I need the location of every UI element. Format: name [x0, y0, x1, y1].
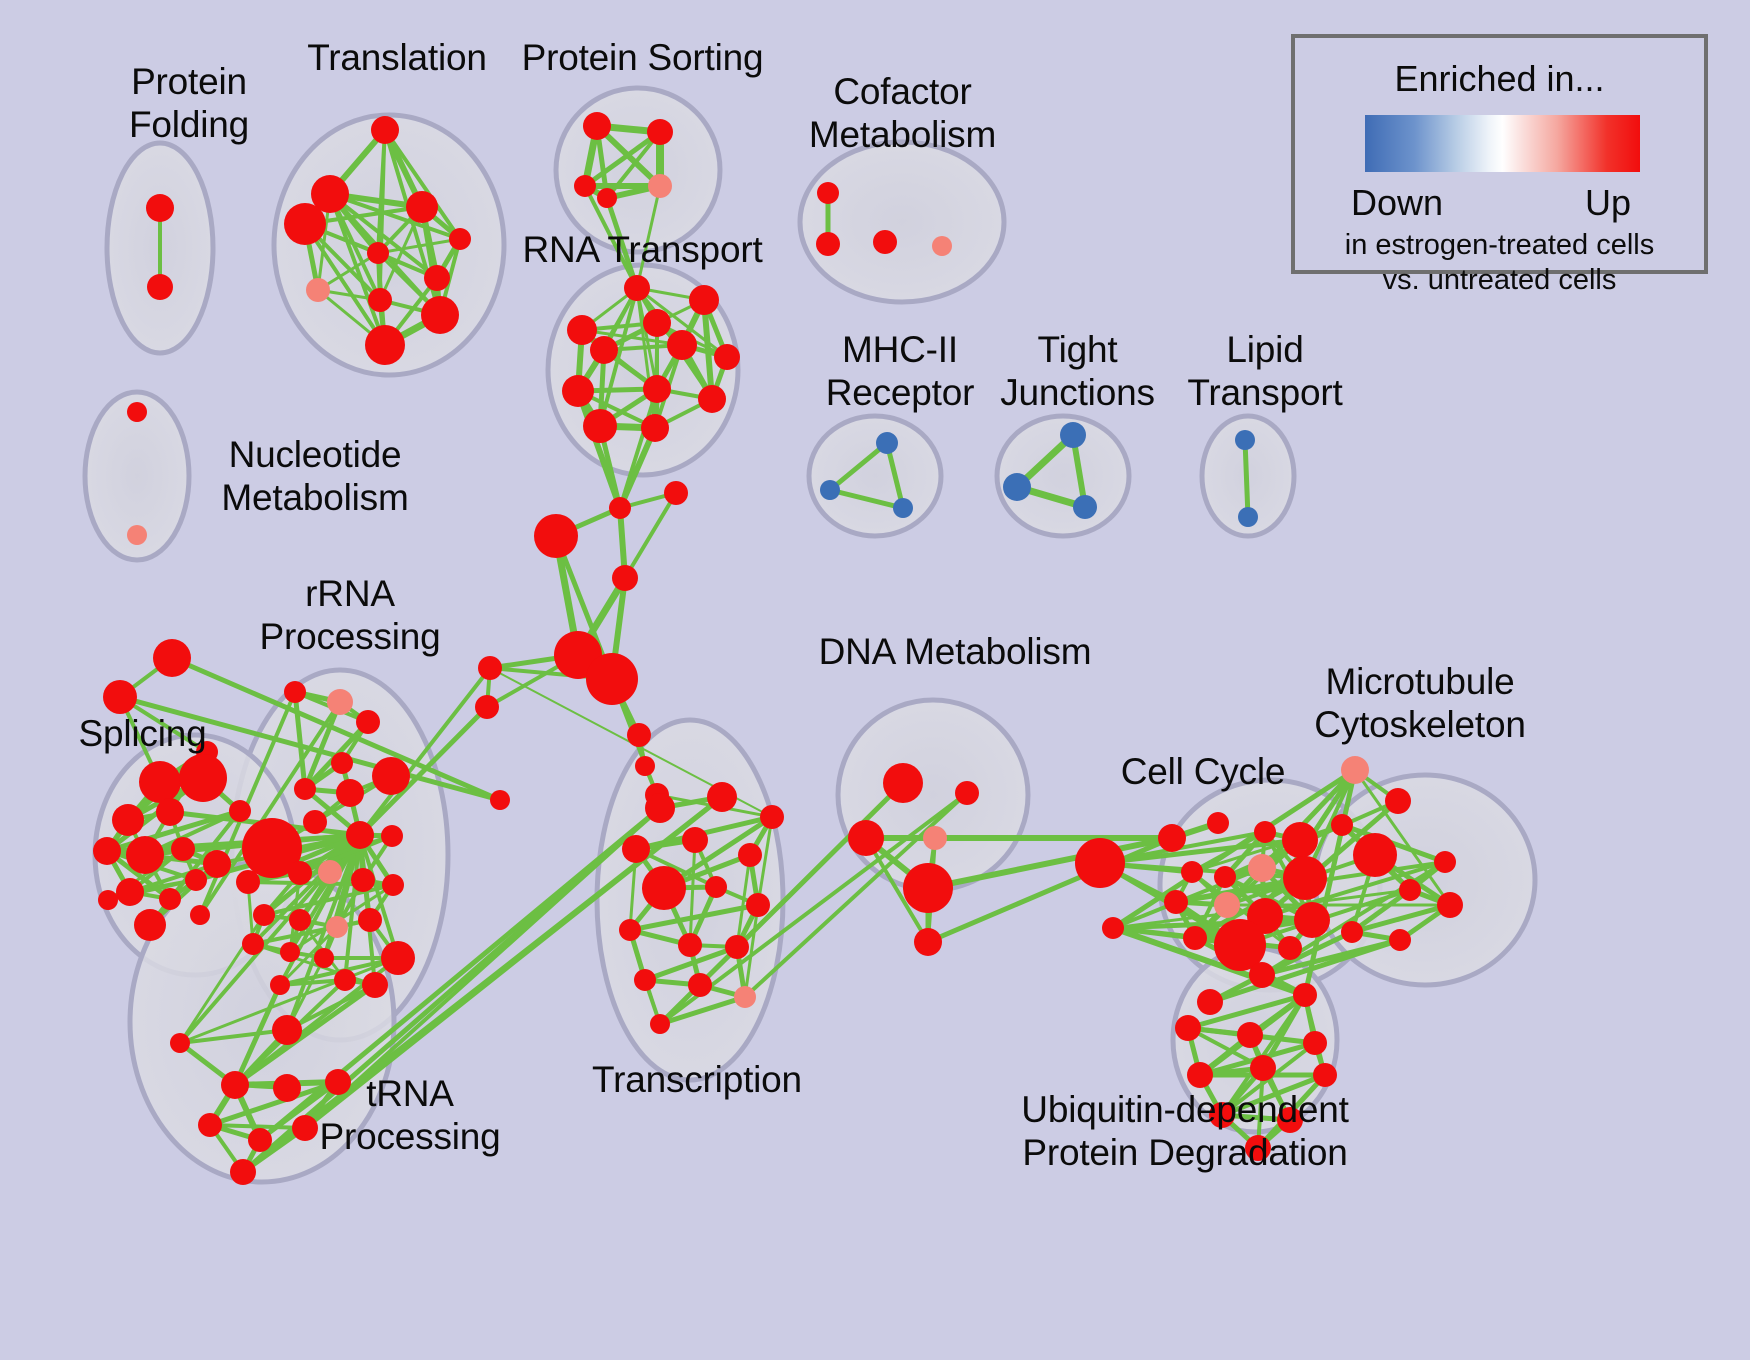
network-node[interactable]	[139, 761, 181, 803]
network-node[interactable]	[280, 942, 300, 962]
network-node[interactable]	[273, 1074, 301, 1102]
network-node[interactable]	[365, 325, 405, 365]
network-node[interactable]	[449, 228, 471, 250]
network-node[interactable]	[622, 835, 650, 863]
network-node[interactable]	[270, 975, 290, 995]
network-node[interactable]	[1197, 989, 1223, 1015]
network-node[interactable]	[1214, 892, 1240, 918]
network-node[interactable]	[1003, 473, 1031, 501]
network-node[interactable]	[1207, 812, 1229, 834]
network-node[interactable]	[1434, 851, 1456, 873]
network-node[interactable]	[734, 986, 756, 1008]
legend-panel: Enriched in... Down Up in estrogen-treat…	[1291, 34, 1708, 274]
network-node[interactable]	[955, 781, 979, 805]
network-node[interactable]	[1181, 861, 1203, 883]
cluster-ellipse-mhc-ii-receptor	[809, 416, 941, 536]
network-node[interactable]	[678, 933, 702, 957]
network-node[interactable]	[634, 969, 656, 991]
network-node[interactable]	[1214, 866, 1236, 888]
network-node[interactable]	[203, 850, 231, 878]
network-node[interactable]	[236, 870, 260, 894]
network-node[interactable]	[1175, 1015, 1201, 1041]
network-node[interactable]	[146, 194, 174, 222]
network-node[interactable]	[648, 174, 672, 198]
network-node[interactable]	[1278, 936, 1302, 960]
cluster-label-rrna-processing: rRNA Processing	[250, 572, 450, 658]
network-node[interactable]	[134, 909, 166, 941]
network-node[interactable]	[381, 825, 403, 847]
network-node[interactable]	[707, 782, 737, 812]
network-node[interactable]	[923, 826, 947, 850]
cluster-label-mhc-ii-receptor: MHC-II Receptor	[800, 328, 1000, 414]
network-node[interactable]	[284, 681, 306, 703]
network-node[interactable]	[1158, 824, 1186, 852]
network-node[interactable]	[1437, 892, 1463, 918]
network-node[interactable]	[848, 820, 884, 856]
network-node[interactable]	[294, 778, 316, 800]
network-node[interactable]	[327, 689, 353, 715]
network-node[interactable]	[932, 236, 952, 256]
network-node[interactable]	[190, 905, 210, 925]
cluster-label-cofactor-metabolism: Cofactor Metabolism	[790, 70, 1015, 156]
network-node[interactable]	[1303, 1031, 1327, 1055]
network-node[interactable]	[1183, 926, 1207, 950]
network-node[interactable]	[98, 890, 118, 910]
network-node[interactable]	[1254, 821, 1276, 843]
network-node[interactable]	[478, 656, 502, 680]
network-node[interactable]	[127, 402, 147, 422]
network-node[interactable]	[1249, 962, 1275, 988]
network-node[interactable]	[367, 242, 389, 264]
network-figure: Protein FoldingTranslationProtein Sortin…	[0, 0, 1750, 1360]
network-node[interactable]	[1235, 430, 1255, 450]
network-node[interactable]	[817, 182, 839, 204]
network-node[interactable]	[893, 498, 913, 518]
network-node[interactable]	[725, 935, 749, 959]
network-node[interactable]	[334, 969, 356, 991]
network-node[interactable]	[326, 916, 348, 938]
network-node[interactable]	[253, 904, 275, 926]
network-node[interactable]	[1250, 1055, 1276, 1081]
legend-subtitle-line2: vs. untreated cells	[1383, 264, 1617, 296]
network-node[interactable]	[590, 336, 618, 364]
cluster-label-protein-folding: Protein Folding	[84, 60, 294, 146]
network-node[interactable]	[1073, 495, 1097, 519]
network-node[interactable]	[664, 481, 688, 505]
network-node[interactable]	[153, 639, 191, 677]
network-node[interactable]	[567, 315, 597, 345]
network-node[interactable]	[248, 1128, 272, 1152]
network-node[interactable]	[760, 805, 784, 829]
cluster-label-dna-metabolism: DNA Metabolism	[810, 630, 1100, 673]
cluster-label-transcription: Transcription	[572, 1058, 822, 1101]
network-node[interactable]	[381, 941, 415, 975]
network-node[interactable]	[1248, 854, 1276, 882]
network-node[interactable]	[116, 878, 144, 906]
network-node[interactable]	[816, 232, 840, 256]
network-node[interactable]	[314, 948, 334, 968]
network-node[interactable]	[1385, 788, 1411, 814]
network-node[interactable]	[574, 175, 596, 197]
network-node[interactable]	[303, 810, 327, 834]
network-node[interactable]	[534, 514, 578, 558]
cluster-label-ubiquitin-protein-degradation: Ubiquitin-dependent Protein Degradation	[1000, 1088, 1370, 1174]
network-node[interactable]	[490, 790, 510, 810]
network-node[interactable]	[641, 414, 669, 442]
network-node[interactable]	[358, 908, 382, 932]
network-edge	[1245, 440, 1248, 517]
cluster-label-rna-transport: RNA Transport	[505, 228, 780, 271]
network-node[interactable]	[820, 480, 840, 500]
network-node[interactable]	[612, 565, 638, 591]
network-node[interactable]	[1331, 814, 1353, 836]
network-node[interactable]	[371, 116, 399, 144]
network-node[interactable]	[185, 869, 207, 891]
network-node[interactable]	[1293, 983, 1317, 1007]
network-node[interactable]	[873, 230, 897, 254]
network-node[interactable]	[619, 919, 641, 941]
network-node[interactable]	[647, 119, 673, 145]
network-node[interactable]	[288, 861, 312, 885]
network-node[interactable]	[645, 793, 675, 823]
network-node[interactable]	[318, 860, 342, 884]
network-node[interactable]	[609, 497, 631, 519]
network-node[interactable]	[198, 1113, 222, 1137]
network-node[interactable]	[356, 710, 380, 734]
network-node[interactable]	[562, 375, 594, 407]
network-node[interactable]	[876, 432, 898, 454]
network-node[interactable]	[627, 723, 651, 747]
network-node[interactable]	[1075, 838, 1125, 888]
network-node[interactable]	[179, 754, 227, 802]
network-node[interactable]	[346, 821, 374, 849]
network-node[interactable]	[103, 680, 137, 714]
network-node[interactable]	[705, 876, 727, 898]
legend-color-gradient	[1365, 115, 1640, 172]
network-node[interactable]	[643, 309, 671, 337]
network-node[interactable]	[171, 837, 195, 861]
network-node[interactable]	[586, 653, 638, 705]
network-node[interactable]	[230, 1159, 256, 1185]
legend-title: Enriched in...	[1295, 58, 1704, 100]
network-node[interactable]	[635, 756, 655, 776]
network-node[interactable]	[351, 868, 375, 892]
network-node[interactable]	[229, 800, 251, 822]
network-node[interactable]	[1282, 822, 1318, 858]
network-node[interactable]	[156, 798, 184, 826]
network-node[interactable]	[1102, 917, 1124, 939]
network-node[interactable]	[1353, 833, 1397, 877]
network-node[interactable]	[242, 933, 264, 955]
network-node[interactable]	[738, 843, 762, 867]
network-node[interactable]	[147, 274, 173, 300]
legend-subtitle-line1: in estrogen-treated cells	[1345, 229, 1655, 261]
network-node[interactable]	[368, 288, 392, 312]
network-node[interactable]	[597, 188, 617, 208]
network-node[interactable]	[682, 827, 708, 853]
network-node[interactable]	[362, 972, 388, 998]
cluster-label-tight-junctions: Tight Junctions	[985, 328, 1170, 414]
cluster-label-lipid-transport: Lipid Transport	[1165, 328, 1365, 414]
cluster-label-microtubule-cytoskeleton: Microtubule Cytoskeleton	[1295, 660, 1545, 746]
network-node[interactable]	[883, 763, 923, 803]
network-node[interactable]	[170, 1033, 190, 1053]
network-node[interactable]	[714, 344, 740, 370]
network-node[interactable]	[382, 874, 404, 896]
network-node[interactable]	[289, 909, 311, 931]
network-node[interactable]	[1187, 1062, 1213, 1088]
network-node[interactable]	[1294, 902, 1330, 938]
network-node[interactable]	[336, 779, 364, 807]
network-node[interactable]	[642, 866, 686, 910]
cluster-label-protein-sorting: Protein Sorting	[500, 36, 785, 79]
network-node[interactable]	[424, 265, 450, 291]
network-node[interactable]	[372, 757, 410, 795]
network-node[interactable]	[746, 893, 770, 917]
network-node[interactable]	[1060, 422, 1086, 448]
network-node[interactable]	[1164, 890, 1188, 914]
network-node[interactable]	[624, 275, 650, 301]
legend-subtitle: in estrogen-treated cellsvs. untreated c…	[1295, 228, 1704, 298]
network-node[interactable]	[406, 191, 438, 223]
network-node[interactable]	[1341, 921, 1363, 943]
network-node[interactable]	[272, 1015, 302, 1045]
network-node[interactable]	[689, 285, 719, 315]
cluster-label-splicing: Splicing	[55, 712, 230, 755]
cluster-label-translation: Translation	[282, 36, 512, 79]
cluster-label-nucleotide-metabolism: Nucleotide Metabolism	[200, 433, 430, 519]
network-node[interactable]	[112, 804, 144, 836]
network-node[interactable]	[903, 863, 953, 913]
network-node[interactable]	[127, 525, 147, 545]
network-node[interactable]	[643, 375, 671, 403]
network-node[interactable]	[306, 278, 330, 302]
network-node[interactable]	[583, 409, 617, 443]
network-node[interactable]	[1341, 756, 1369, 784]
network-node[interactable]	[667, 330, 697, 360]
network-node[interactable]	[914, 928, 942, 956]
network-node[interactable]	[1237, 1022, 1263, 1048]
network-node[interactable]	[688, 973, 712, 997]
network-node[interactable]	[421, 296, 459, 334]
network-node[interactable]	[475, 695, 499, 719]
network-node[interactable]	[126, 836, 164, 874]
network-node[interactable]	[698, 385, 726, 413]
network-node[interactable]	[1238, 507, 1258, 527]
cluster-label-cell-cycle: Cell Cycle	[1103, 750, 1303, 793]
network-node[interactable]	[284, 203, 326, 245]
legend-down-label: Down	[1351, 182, 1443, 224]
network-node[interactable]	[221, 1071, 249, 1099]
network-node[interactable]	[583, 112, 611, 140]
network-node[interactable]	[159, 888, 181, 910]
network-node[interactable]	[650, 1014, 670, 1034]
network-node[interactable]	[1313, 1063, 1337, 1087]
cluster-label-trna-processing: tRNA Processing	[310, 1072, 510, 1158]
network-node[interactable]	[1389, 929, 1411, 951]
legend-up-label: Up	[1585, 182, 1631, 224]
cluster-ellipse-cofactor-metabolism	[800, 142, 1004, 302]
network-node[interactable]	[93, 837, 121, 865]
network-node[interactable]	[1283, 856, 1327, 900]
network-node[interactable]	[331, 752, 353, 774]
network-node[interactable]	[1399, 879, 1421, 901]
